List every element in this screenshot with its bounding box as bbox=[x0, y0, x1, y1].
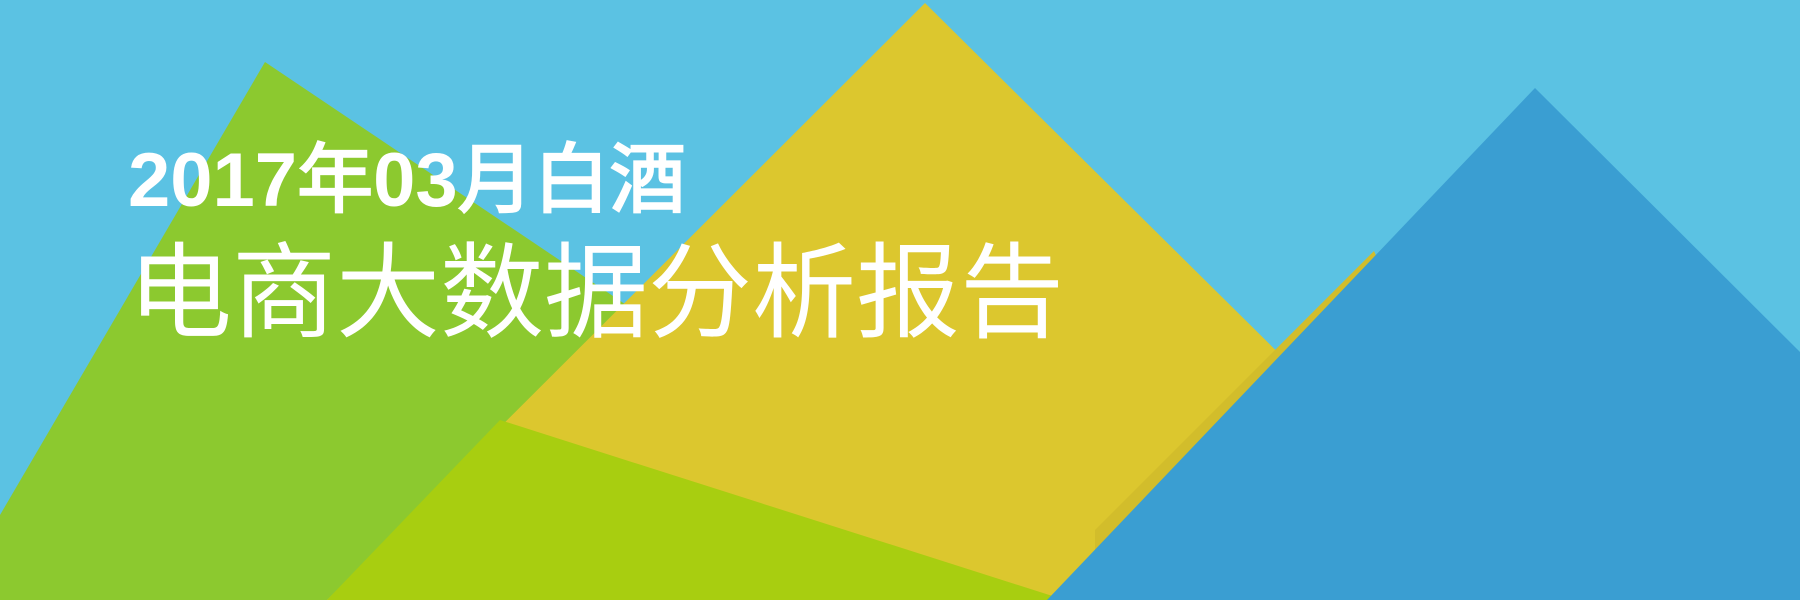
banner-background-graphic bbox=[0, 0, 1800, 600]
report-banner: 2017年03月白酒 电商大数据分析报告 bbox=[0, 0, 1800, 600]
